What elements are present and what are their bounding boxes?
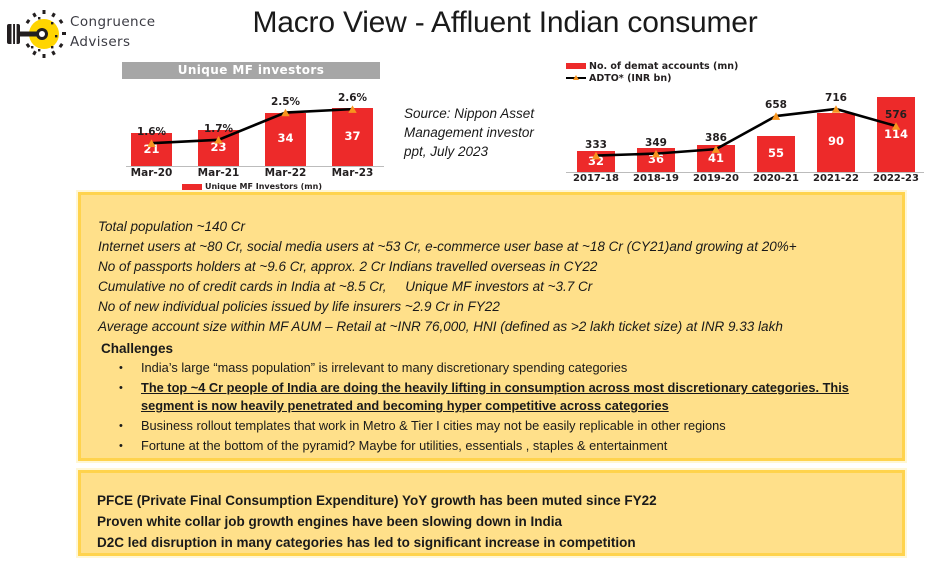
page-title: Macro View - Affluent Indian consumer [225,6,785,40]
source-note: Source: Nippon Asset Management investor… [404,104,544,161]
challenges-bullet-list: •India’s large “mass population” is irre… [115,359,895,457]
legend-entry-bar: Unique MF Investors (mn) [118,182,386,191]
legend-swatch-bar-icon [182,184,202,190]
legend-swatch-line-icon [566,75,586,81]
key-sun-logo-icon [6,8,68,60]
line-value-label: 1.6% [130,126,174,138]
line-value-label: 716 [814,92,858,104]
challenge-text: Fortune at the bottom of the pyramid? Ma… [141,437,667,455]
stat-line: Total population ~140 Cr [98,217,797,237]
chart-plot-demat: 3236415590114333349386658716576 [566,82,926,172]
line-value-label: 576 [874,109,918,121]
summary-line-list: PFCE (Private Final Consumption Expendit… [97,490,657,553]
legend-swatch-bar-icon [566,63,586,69]
x-tick: Mar-21 [185,167,252,182]
x-tick: Mar-22 [252,167,319,182]
challenge-item: •India’s large “mass population” is irre… [115,359,895,377]
legend-label: Unique MF Investors (mn) [205,182,322,191]
line-value-label: 386 [694,132,738,144]
x-tick: Mar-20 [118,167,185,182]
x-tick: 2019-20 [686,173,746,189]
stat-line: Cumulative no of credit cards in India a… [98,277,797,297]
stat-line: No of new individual policies issued by … [98,297,797,317]
challenge-text: India’s large “mass population” is irrel… [141,359,627,377]
line-value-label: 658 [754,99,798,111]
x-tick: Mar-23 [319,167,386,182]
line-value-label: 2.5% [264,96,308,108]
x-tick: 2020-21 [746,173,806,189]
chart-unique-mf-investors: Unique MF investors 212334371.6%1.7%2.5%… [118,62,386,192]
chart-title-mf: Unique MF investors [122,62,380,79]
brand-name-line1: Congruence [70,12,180,32]
legend-label: No. of demat accounts (mn) [589,61,738,72]
line-value-label: 349 [634,137,678,149]
summary-line: Proven white collar job growth engines h… [97,511,657,532]
bullet-icon: • [115,379,141,397]
stats-callout-box: Total population ~140 CrInternet users a… [78,192,905,461]
summary-callout-box: PFCE (Private Final Consumption Expendit… [78,470,905,556]
legend-entry-bar: No. of demat accounts (mn) [566,60,806,72]
line-value-label: 2.6% [331,92,375,104]
stat-line: No of passports holders at ~9.6 Cr, appr… [98,257,797,277]
x-tick: 2018-19 [626,173,686,189]
x-tick: 2017-18 [566,173,626,189]
challenge-item: •The top ~4 Cr people of India are doing… [115,379,895,415]
slide: Congruence Advisers Macro View - Affluen… [0,0,940,579]
chart-legend-demat: No. of demat accounts (mn) ADTO* (INR bn… [566,60,806,84]
challenges-heading: Challenges [101,341,173,356]
bullet-icon: • [115,437,141,455]
chart-demat-accounts: No. of demat accounts (mn) ADTO* (INR bn… [552,60,932,192]
x-tick: 2021-22 [806,173,866,189]
challenge-item: •Business rollout templates that work in… [115,417,895,435]
summary-line: PFCE (Private Final Consumption Expendit… [97,490,657,511]
chart-x-labels-mf: Mar-20 Mar-21 Mar-22 Mar-23 [118,167,386,182]
brand-wordmark: Congruence Advisers [70,12,180,52]
challenge-item: •Fortune at the bottom of the pyramid? M… [115,437,895,455]
brand-name-line2: Advisers [70,32,180,52]
x-tick: 2022-23 [866,173,926,189]
challenge-text: Business rollout templates that work in … [141,417,726,435]
brand-logo: Congruence Advisers [6,8,176,60]
bullet-icon: • [115,417,141,435]
stat-line: Average account size within MF AUM – Ret… [98,317,797,337]
challenge-text: The top ~4 Cr people of India are doing … [141,379,895,415]
bullet-icon: • [115,359,141,377]
stat-line: Internet users at ~80 Cr, social media u… [98,237,797,257]
chart-plot-mf: 212334371.6%1.7%2.5%2.6% [118,84,386,166]
chart-x-labels-demat: 2017-18 2018-19 2019-20 2020-21 2021-22 … [566,173,926,189]
line-value-label: 333 [574,139,618,151]
summary-line: D2C led disruption in many categories ha… [97,532,657,553]
stats-line-list: Total population ~140 CrInternet users a… [98,217,797,337]
trend-line [566,82,926,172]
line-value-label: 1.7% [197,123,241,135]
